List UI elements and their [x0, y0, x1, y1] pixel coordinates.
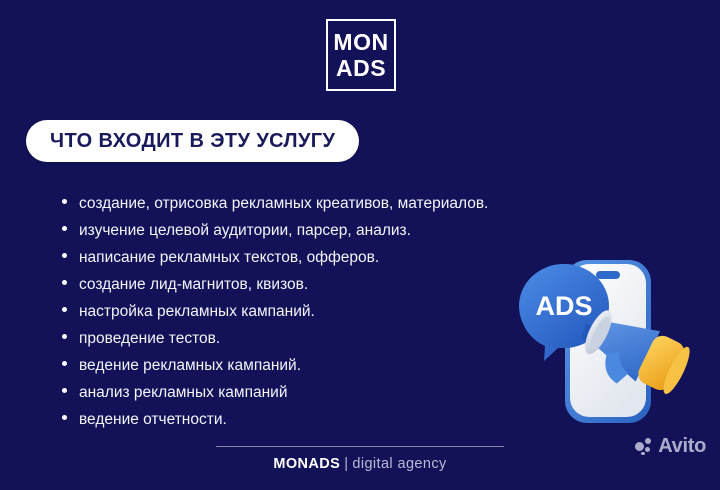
avito-dots-icon — [635, 438, 654, 456]
list-item-label: создание лид-магнитов, квизов. — [79, 274, 308, 295]
bullet-dot-icon — [62, 253, 67, 258]
avito-wordmark: Avito — [658, 435, 706, 458]
bullet-dot-icon — [62, 361, 67, 366]
footer-separator: | — [344, 456, 348, 472]
avito-watermark: Avito — [635, 435, 706, 458]
list-item: изучение целевой аудитории, парсер, анал… — [62, 220, 622, 241]
list-item-label: ведение отчетности. — [79, 409, 227, 430]
footer-brand: MONADS — [273, 456, 340, 472]
list-item-label: изучение целевой аудитории, парсер, анал… — [79, 220, 411, 241]
list-item-label: проведение тестов. — [79, 328, 220, 349]
bullet-dot-icon — [62, 334, 67, 339]
bullet-dot-icon — [62, 415, 67, 420]
logo-line-mon: MON — [333, 30, 388, 54]
list-item-label: ведение рекламных кампаний. — [79, 355, 301, 376]
section-heading-pill: ЧТО ВХОДИТ В ЭТУ УСЛУГУ — [26, 120, 359, 162]
page-title: ЧТО ВХОДИТ В ЭТУ УСЛУГУ — [50, 130, 335, 153]
footer-divider — [216, 446, 504, 447]
footer: MONADS|digital agency — [0, 446, 720, 472]
list-item-label: настройка рекламных кампаний. — [79, 301, 315, 322]
ads-bubble-label: ADS — [535, 291, 592, 321]
bullet-dot-icon — [62, 226, 67, 231]
monads-logo: MON ADS — [326, 19, 396, 91]
list-item-label: анализ рекламных кампаний — [79, 382, 287, 403]
logo-line-ads: ADS — [336, 56, 386, 80]
list-item-label: создание, отрисовка рекламных креативов,… — [79, 193, 488, 214]
phone-ads-megaphone-illustration: ADS — [508, 245, 704, 435]
bullet-dot-icon — [62, 199, 67, 204]
promo-slide: MON ADS ЧТО ВХОДИТ В ЭТУ УСЛУГУ создание… — [0, 0, 720, 490]
bullet-dot-icon — [62, 307, 67, 312]
bullet-dot-icon — [62, 280, 67, 285]
footer-credit: MONADS|digital agency — [273, 456, 446, 472]
footer-tagline: digital agency — [352, 456, 446, 472]
list-item-label: написание рекламных текстов, офферов. — [79, 247, 379, 268]
bullet-dot-icon — [62, 388, 67, 393]
list-item: создание, отрисовка рекламных креативов,… — [62, 193, 622, 214]
